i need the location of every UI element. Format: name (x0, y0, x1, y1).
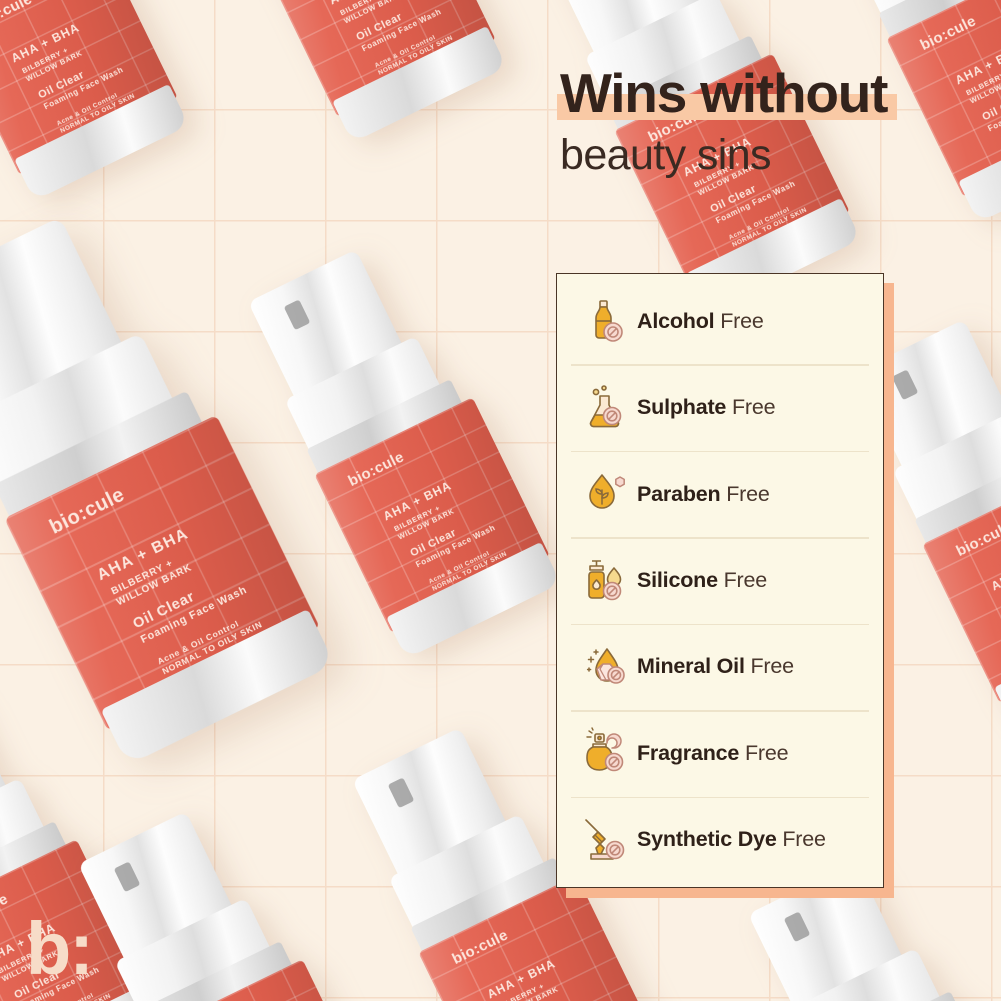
list-item: Synthetic Dye Free (557, 797, 883, 883)
list-item-label: Mineral Oil Free (637, 654, 794, 679)
pump-bottle-icon (575, 554, 637, 606)
free-from-panel: Alcohol Free (556, 273, 884, 888)
flask-icon (575, 382, 637, 434)
list-item-label: Silicone Free (637, 568, 767, 593)
alcohol-bottle-icon (575, 295, 637, 347)
brand-watermark: b: (26, 912, 92, 986)
gem-droplet-icon (575, 641, 637, 693)
list-item: Paraben Free (557, 451, 883, 537)
leaf-droplet-icon (575, 468, 637, 520)
list-item-label: Paraben Free (637, 482, 770, 507)
headline-line2: beauty sins (560, 130, 980, 180)
headline-line1-wrap: Wins without (560, 62, 887, 124)
product-bottle: bio:cule AHA + BHA BILBERRY + WILLOW BAR… (171, 0, 530, 150)
marketing-banner: bio:cule AHA + BHA BILBERRY + WILLOW BAR… (0, 0, 1001, 1001)
free-from-list: Alcohol Free (557, 274, 883, 887)
list-item-label: Alcohol Free (637, 309, 764, 334)
list-item-label: Fragrance Free (637, 741, 788, 766)
headline-line1: Wins without (560, 62, 887, 124)
headline: Wins without beauty sins (560, 62, 980, 180)
list-item: Mineral Oil Free (557, 624, 883, 710)
list-item: Fragrance Free (557, 710, 883, 796)
list-item-label: Sulphate Free (637, 395, 775, 420)
product-bottle: bio:cule AHA + BHA BILBERRY + WILLOW BAR… (0, 0, 211, 208)
list-item-label: Synthetic Dye Free (637, 827, 826, 852)
list-item: Silicone Free (557, 537, 883, 623)
list-item: Sulphate Free (557, 364, 883, 450)
paint-brush-icon (575, 814, 637, 866)
perfume-bottle-icon (575, 727, 637, 779)
list-item: Alcohol Free (557, 278, 883, 364)
